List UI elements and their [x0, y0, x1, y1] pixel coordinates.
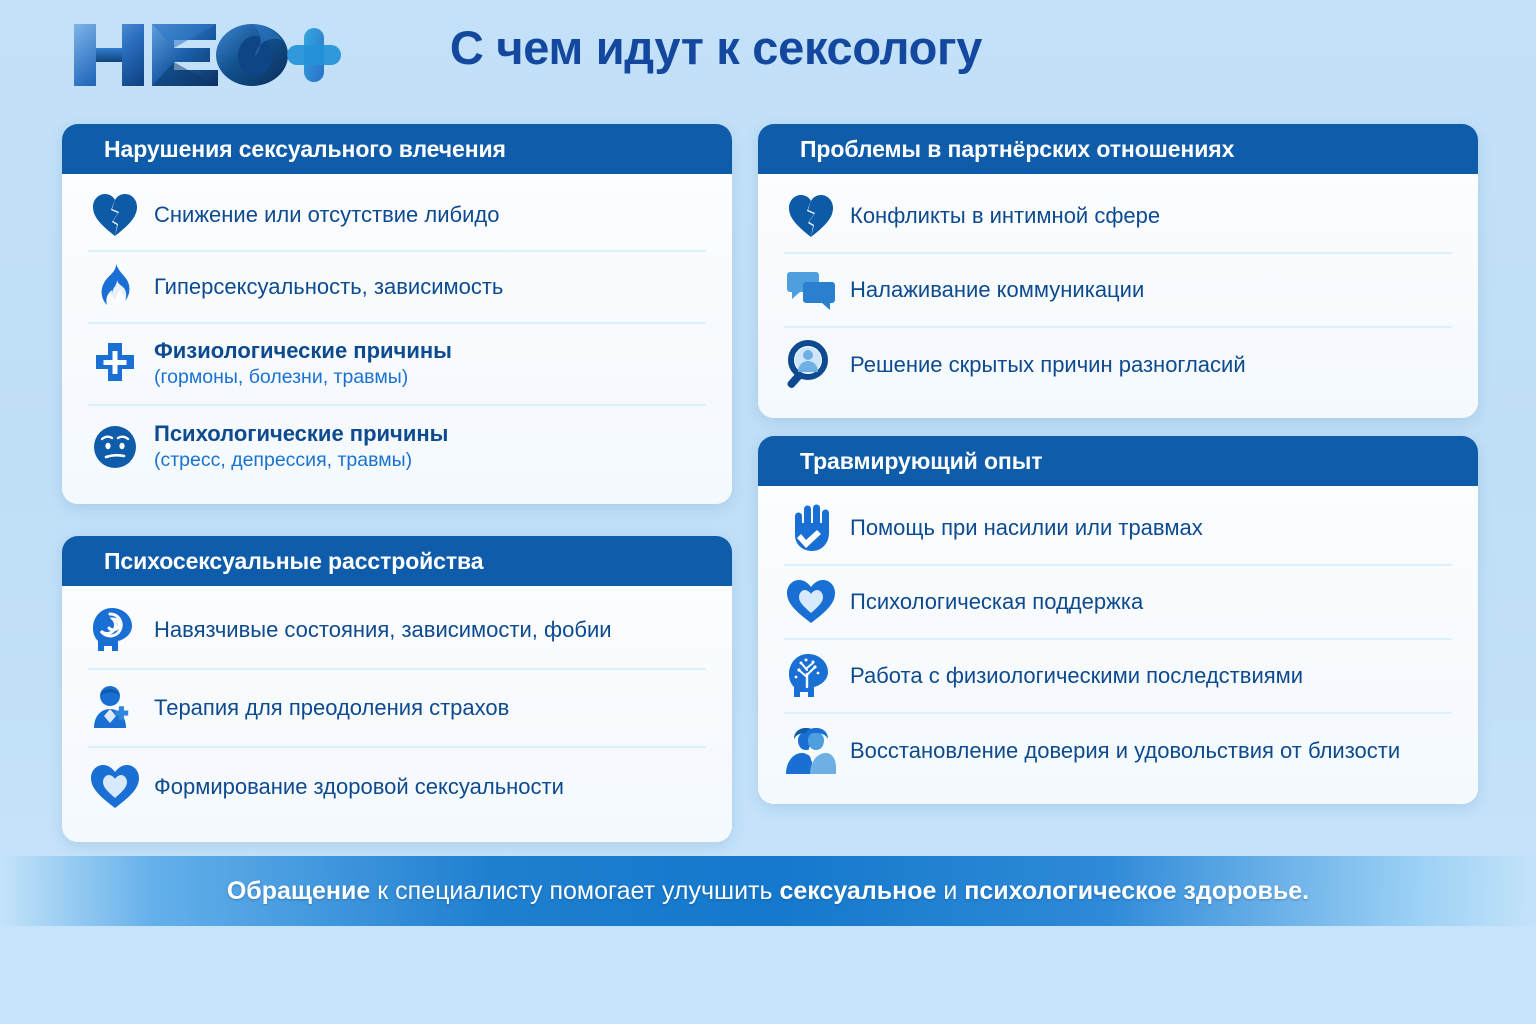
head-spiral-icon: [88, 603, 142, 657]
list-item[interactable]: Снижение или отсутствие либидо: [88, 180, 706, 252]
list-item-label: Работа с физиологическими последствиями: [850, 663, 1303, 688]
flame-icon: [88, 260, 142, 314]
list-item-text: Помощь при насилии или травмах: [850, 515, 1452, 541]
footer-lead: Обращение: [227, 877, 370, 905]
broken-heart-icon: [784, 189, 838, 243]
card-sexual-desire-disorders: Нарушения сексуального влечения Снижение…: [62, 124, 732, 504]
list-item-text: Решение скрытых причин разногласий: [850, 352, 1452, 378]
list-item-label: Конфликты в интимной сфере: [850, 203, 1160, 228]
list-item[interactable]: Налаживание коммуникации: [784, 254, 1452, 328]
sad-face-icon: [88, 420, 142, 474]
footer-strong-2: психологическое здоровье.: [964, 877, 1309, 905]
list-item[interactable]: Психологическая поддержка: [784, 566, 1452, 640]
list-item-label: Гиперсексуальность, зависимость: [154, 274, 503, 299]
broken-heart-icon: [88, 188, 142, 242]
list-item-label: Терапия для преодоления страхов: [154, 695, 509, 720]
list-item[interactable]: Восстановление доверия и удовольствия от…: [784, 714, 1452, 788]
list-item-text: Навязчивые состояния, зависимости, фобии: [154, 617, 706, 643]
chat-bubbles-icon: [784, 263, 838, 317]
list-item[interactable]: Психологические причины (стресс, депресс…: [88, 406, 706, 488]
list-item-label: Решение скрытых причин разногласий: [850, 352, 1246, 377]
list-item-text: Психологическая поддержка: [850, 589, 1452, 615]
person-plus-icon: [88, 681, 142, 735]
card-body: Помощь при насилии или травмах Психологи…: [758, 486, 1478, 804]
list-item-text: Снижение или отсутствие либидо: [154, 202, 706, 228]
card-traumatic-experience: Травмирующий опыт Помощь при насилии или…: [758, 436, 1478, 804]
list-item-text: Восстановление доверия и удовольствия от…: [850, 738, 1452, 764]
list-item-text: Работа с физиологическими последствиями: [850, 663, 1452, 689]
list-item[interactable]: Конфликты в интимной сфере: [784, 180, 1452, 254]
list-item[interactable]: Терапия для преодоления страхов: [88, 670, 706, 748]
page-header: С чем идут к сексологу: [0, 0, 1536, 112]
card-title: Проблемы в партнёрских отношениях: [800, 136, 1234, 163]
list-item-label: Навязчивые состояния, зависимости, фобии: [154, 617, 612, 642]
head-tree-icon: [784, 649, 838, 703]
list-item[interactable]: Решение скрытых причин разногласий: [784, 328, 1452, 402]
footer-strong: сексуальное: [779, 877, 936, 905]
card-title: Травмирующий опыт: [800, 448, 1042, 475]
brand-logo: [56, 14, 356, 96]
list-item-text: Конфликты в интимной сфере: [850, 203, 1452, 229]
card-body: Снижение или отсутствие либидо Гиперсекс…: [62, 174, 732, 504]
list-item-sublabel: (стресс, депрессия, травмы): [154, 449, 706, 472]
list-item[interactable]: Навязчивые состояния, зависимости, фобии: [88, 592, 706, 670]
heart-inner-icon: [88, 760, 142, 814]
list-item-label: Снижение или отсутствие либидо: [154, 202, 500, 227]
card-title: Психосексуальные расстройства: [104, 548, 483, 575]
list-item-text: Формирование здоровой сексуальности: [154, 774, 706, 800]
list-item-text: Гиперсексуальность, зависимость: [154, 274, 706, 300]
list-item[interactable]: Физиологические причины (гормоны, болезн…: [88, 324, 706, 406]
card-body: Конфликты в интимной сфере Налаживание к…: [758, 174, 1478, 418]
list-item-text: Налаживание коммуникации: [850, 277, 1452, 303]
list-item-sublabel: (гормоны, болезни, травмы): [154, 366, 706, 389]
card-psychosexual-disorders: Психосексуальные расстройства Навязчивые…: [62, 536, 732, 842]
list-item-label: Психологические причины: [154, 421, 448, 446]
magnifier-person-icon: [784, 338, 838, 392]
card-header: Нарушения сексуального влечения: [62, 124, 732, 174]
card-header: Психосексуальные расстройства: [62, 536, 732, 586]
card-body: Навязчивые состояния, зависимости, фобии…: [62, 586, 732, 842]
list-item-label: Налаживание коммуникации: [850, 277, 1144, 302]
footer-middle: к специалисту помогает улучшить: [370, 877, 779, 905]
list-item-label: Физиологические причины: [154, 338, 452, 363]
list-item-text: Терапия для преодоления страхов: [154, 695, 706, 721]
list-item-label: Восстановление доверия и удовольствия от…: [850, 738, 1400, 763]
couple-icon: [784, 724, 838, 778]
card-header: Проблемы в партнёрских отношениях: [758, 124, 1478, 174]
footer-message: Обращение к специалисту помогает улучшит…: [227, 877, 1309, 906]
footer-banner: Обращение к специалисту помогает улучшит…: [0, 856, 1536, 926]
hand-check-icon: [784, 501, 838, 555]
list-item-text: Физиологические причины (гормоны, болезн…: [154, 338, 706, 389]
card-title: Нарушения сексуального влечения: [104, 136, 506, 163]
list-item[interactable]: Работа с физиологическими последствиями: [784, 640, 1452, 714]
medical-cross-icon: [88, 337, 142, 391]
list-item[interactable]: Формирование здоровой сексуальности: [88, 748, 706, 826]
heart-inner-icon: [784, 575, 838, 629]
list-item-label: Психологическая поддержка: [850, 589, 1143, 614]
list-item-text: Психологические причины (стресс, депресс…: [154, 421, 706, 472]
card-header: Травмирующий опыт: [758, 436, 1478, 486]
list-item-label: Помощь при насилии или травмах: [850, 515, 1203, 540]
page-title: С чем идут к сексологу: [386, 20, 1046, 75]
list-item[interactable]: Помощь при насилии или травмах: [784, 492, 1452, 566]
footer-tail: и: [936, 877, 964, 905]
list-item[interactable]: Гиперсексуальность, зависимость: [88, 252, 706, 324]
card-partner-relationship-problems: Проблемы в партнёрских отношениях Конфли…: [758, 124, 1478, 418]
list-item-label: Формирование здоровой сексуальности: [154, 774, 564, 799]
